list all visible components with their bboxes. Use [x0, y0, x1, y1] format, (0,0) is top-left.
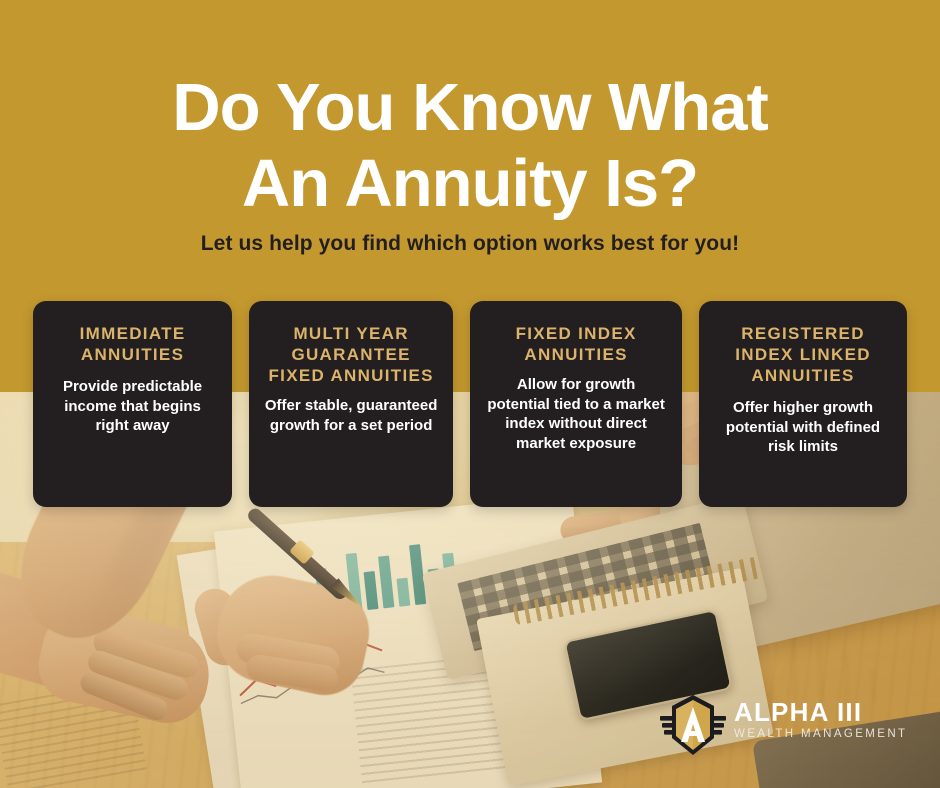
page-title: Do You Know What An Annuity Is? [0, 70, 940, 222]
card-title: IMMEDIATE ANNUITIES [47, 323, 218, 365]
logo-wordmark: ALPHA III WEALTH MANAGEMENT [734, 698, 914, 742]
logo-tagline: WEALTH MANAGEMENT [734, 726, 914, 742]
card-body: Offer higher growth potential with defin… [713, 398, 893, 457]
card-body: Provide predictable income that begins r… [47, 377, 218, 436]
card-title: REGISTERED INDEX LINKED ANNUITIES [713, 323, 893, 386]
page-title-line-2: An Annuity Is? [0, 146, 940, 222]
annuity-card-fixed-index[interactable]: FIXED INDEX ANNUITIES Allow for growth p… [470, 301, 682, 507]
annuity-card-immediate[interactable]: IMMEDIATE ANNUITIES Provide predictable … [33, 301, 232, 507]
card-body: Offer stable, guaranteed growth for a se… [263, 396, 439, 435]
annuity-card-multi-year-guarantee-fixed[interactable]: MULTI YEAR GUARANTEE FIXED ANNUITIES Off… [249, 301, 453, 507]
card-title: MULTI YEAR GUARANTEE FIXED ANNUITIES [263, 323, 439, 386]
page-title-line-1: Do You Know What [0, 70, 940, 146]
logo-company-name: ALPHA III [734, 698, 914, 726]
annuity-card-list: IMMEDIATE ANNUITIES Provide predictable … [33, 301, 907, 507]
annuity-card-registered-index-linked[interactable]: REGISTERED INDEX LINKED ANNUITIES Offer … [699, 301, 907, 507]
card-body: Allow for growth potential tied to a mar… [484, 375, 668, 453]
alpha-hexagon-badge-icon [660, 694, 726, 756]
card-title: FIXED INDEX ANNUITIES [484, 323, 668, 365]
brand-logo: ALPHA III WEALTH MANAGEMENT [660, 694, 910, 756]
page-subtitle: Let us help you find which option works … [0, 232, 940, 256]
annuity-infographic-poster: Do You Know What An Annuity Is? Let us h… [0, 0, 940, 788]
